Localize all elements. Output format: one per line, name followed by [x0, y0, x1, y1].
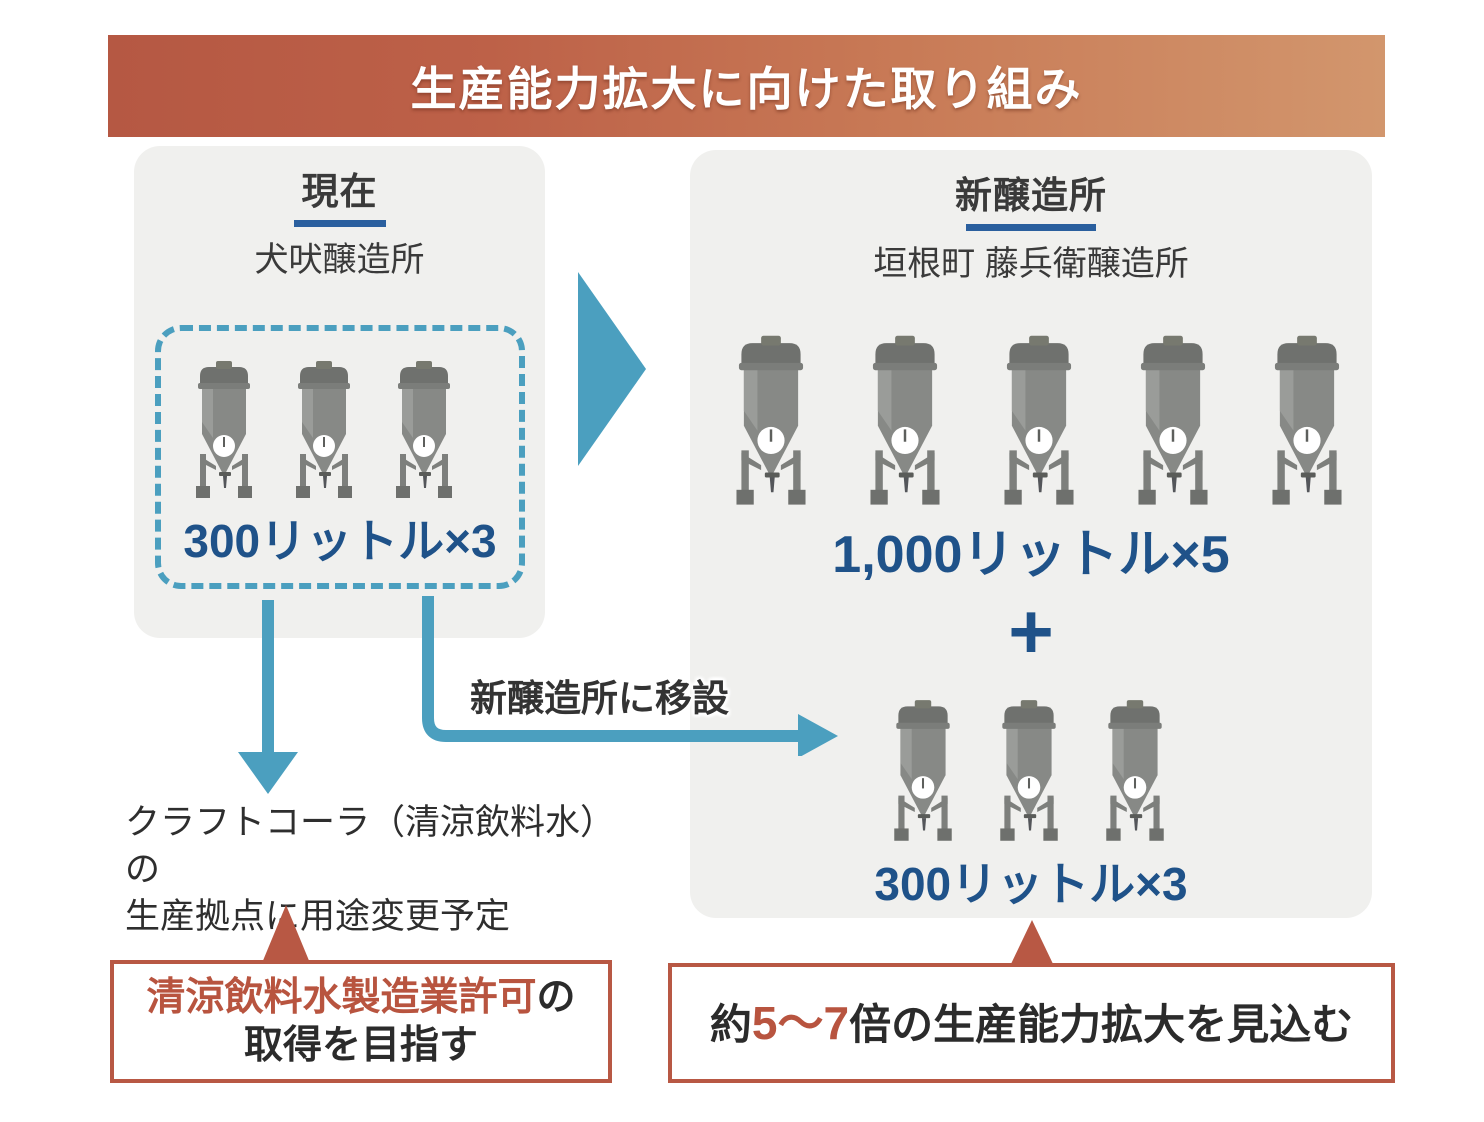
fermentation-tank-icon	[1096, 697, 1174, 847]
fermentation-tank-icon	[386, 358, 462, 504]
current-facility-name: 犬吠醸造所	[134, 241, 545, 280]
growth-prefix: 約	[710, 1001, 752, 1048]
permit-callout-line-1: 清涼飲料水製造業許可の	[146, 974, 575, 1022]
new-facility-name: 垣根町 藤兵衛醸造所	[690, 245, 1372, 284]
permit-callout: 清涼飲料水製造業許可の 取得を目指す	[110, 960, 612, 1083]
current-heading: 現在	[134, 172, 545, 213]
triangle-right-icon	[578, 272, 646, 466]
left-caption: クラフトコーラ（清涼飲料水）の 生産拠点に用途変更予定	[125, 800, 625, 941]
current-tank-row	[186, 358, 462, 504]
current-panel-header: 現在 犬吠醸造所	[134, 172, 545, 280]
left-caption-line-2: 生産拠点に用途変更予定	[125, 894, 625, 941]
capacity-growth-callout: 約5〜7倍の生産能力拡大を見込む	[668, 963, 1395, 1083]
permit-callout-line-2: 取得を目指す	[244, 1022, 478, 1070]
fermentation-tank-icon	[1124, 332, 1222, 512]
connector-line-down	[262, 600, 274, 755]
arrow-down-icon	[238, 752, 298, 794]
capacity-growth-line: 約5〜7倍の生産能力拡大を見込む	[710, 995, 1353, 1051]
current-capacity-label: 300リットル×3	[155, 505, 525, 571]
new-heading: 新醸造所	[690, 176, 1372, 217]
new-panel-header: 新醸造所 垣根町 藤兵衛醸造所	[690, 176, 1372, 284]
new-heading-rule	[966, 224, 1096, 231]
fermentation-tank-icon	[286, 358, 362, 504]
left-caption-line-1: クラフトコーラ（清涼飲料水）の	[125, 800, 625, 894]
title-banner: 生産能力拡大に向けた取り組み	[108, 35, 1385, 137]
permit-tail: の	[537, 976, 576, 1019]
new-large-capacity-label: 1,000リットル×5	[690, 512, 1372, 587]
fermentation-tank-icon	[186, 358, 262, 504]
page-title: 生産能力拡大に向けた取り組み	[411, 53, 1083, 119]
new-small-tank-row	[884, 697, 1174, 847]
current-heading-rule	[294, 220, 386, 227]
fermentation-tank-icon	[884, 697, 962, 847]
triangle-up-icon	[262, 905, 310, 963]
triangle-up-icon	[1010, 920, 1054, 966]
growth-suffix: 倍の生産能力拡大を見込む	[849, 1001, 1353, 1048]
fermentation-tank-icon	[990, 332, 1088, 512]
permit-highlight: 清涼飲料水製造業許可	[146, 976, 536, 1019]
fermentation-tank-icon	[856, 332, 954, 512]
fermentation-tank-icon	[1258, 332, 1356, 512]
fermentation-tank-icon	[990, 697, 1068, 847]
transfer-label: 新醸造所に移設	[470, 668, 729, 722]
fermentation-tank-icon	[722, 332, 820, 512]
infographic-root: 生産能力拡大に向けた取り組み 現在 犬吠醸造所	[0, 0, 1484, 1122]
growth-multiplier: 5〜7	[752, 997, 849, 1049]
new-small-capacity-label: 300リットル×3	[690, 848, 1372, 914]
new-large-tank-row	[722, 332, 1356, 512]
